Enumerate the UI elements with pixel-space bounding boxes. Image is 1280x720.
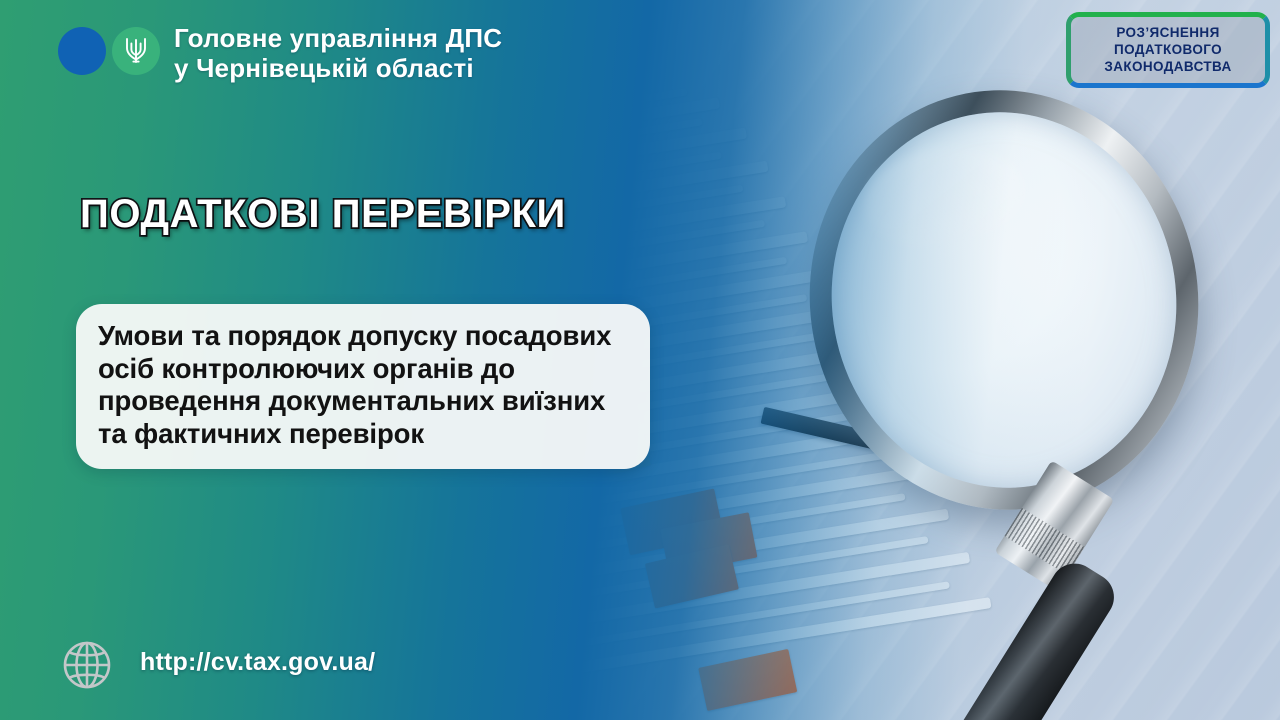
site-url[interactable]: http://cv.tax.gov.ua/ [140,648,375,677]
tax-service-banner: Головне управління ДПС у Чернівецькій об… [0,0,1280,720]
topic-card: Умови та порядок допуску посадових осіб … [76,304,650,469]
badge-line-3: ЗАКОНОДАВСТВА [1104,59,1231,75]
ukraine-trident-logo [112,27,160,75]
page-title: ПОДАТКОВІ ПЕРЕВІРКИ [80,192,566,237]
dps-blue-circle-logo [58,27,106,75]
globe-icon [60,638,114,692]
organization-title: Головне управління ДПС у Чернівецькій об… [174,24,502,83]
topic-card-text: Умови та порядок допуску посадових осіб … [98,320,628,451]
badge-line-2: ПОДАТКОВОГО [1114,42,1222,58]
badge-line-1: РОЗ’ЯСНЕННЯ [1116,25,1219,41]
tax-law-clarification-badge: РОЗ’ЯСНЕННЯ ПОДАТКОВОГО ЗАКОНОДАВСТВА [1066,12,1270,88]
